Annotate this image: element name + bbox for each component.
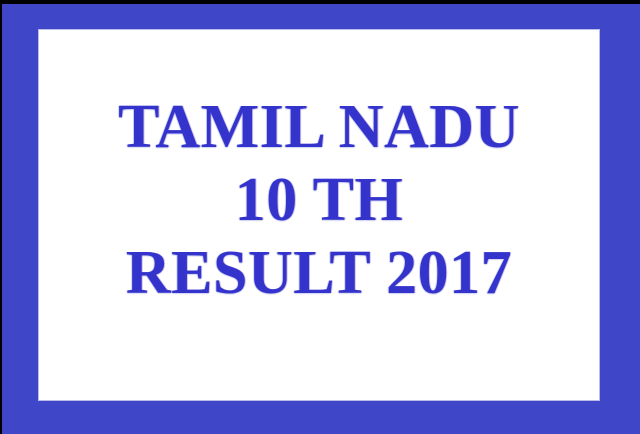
image-edge-left (0, 0, 2, 434)
poster-headline: TAMIL NADU 10 TH RESULT 2017 (38, 29, 600, 401)
poster-canvas: TAMIL NADU 10 TH RESULT 2017 (0, 0, 640, 434)
headline-line-2: 10 TH (235, 164, 403, 237)
headline-line-3: RESULT 2017 (126, 237, 512, 310)
image-edge-top (0, 0, 640, 4)
headline-line-1: TAMIL NADU (118, 91, 520, 164)
